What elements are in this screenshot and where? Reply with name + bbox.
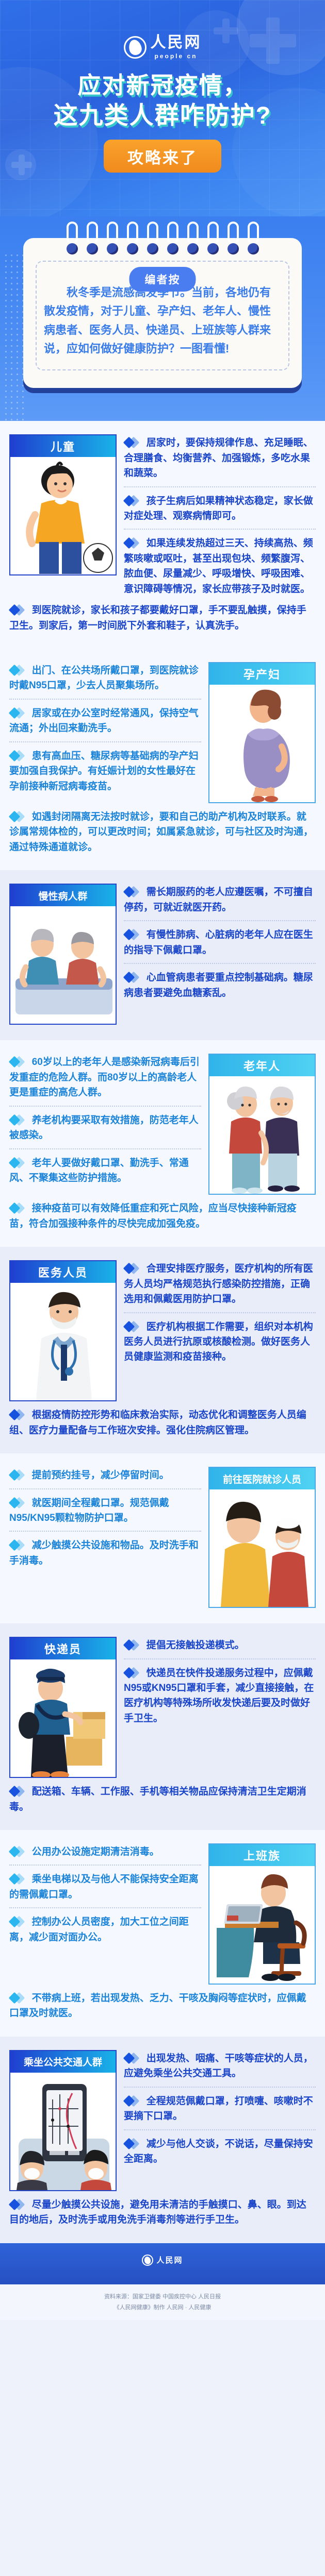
figure-card-elderly: 老年人 xyxy=(208,1054,316,1195)
section-public-transport: 乘坐公共交通人群 xyxy=(0,2037,325,2243)
bullet-text: 根据疫情防控形势和临床救治实际，动态优化和调整医务人员编组、医疗力量配备与工作班… xyxy=(9,1408,316,1438)
diamond-bullet-icon xyxy=(10,751,26,761)
bullet-item: 居家或在办公室时经常通风，保持空气流通；外出回来勤洗手。 xyxy=(9,699,201,736)
figure-card-hospital-visitor: 前往医院就诊人员 xyxy=(208,1467,316,1608)
section-children: 儿童 xyxy=(0,421,325,649)
section-medical-staff: 医务人员 xyxy=(0,1247,325,1453)
brand-name-en: people cn xyxy=(154,53,197,60)
bullet-text: 全程规范佩戴口罩，打喷嚏、咳嗽时不要摘下口罩。 xyxy=(124,2094,316,2124)
brand-name-cn: 人民网 xyxy=(151,35,202,50)
bullet-text: 医疗机构根据工作需要，组织对本机构医务人员进行抗原或核酸检测。做好医务人员健康监… xyxy=(124,1319,316,1365)
bullet-item: 居家时，要保持规律作息、充足睡眠、合理膳食、均衡营养、加强锻炼，多吃水果和蔬菜。 xyxy=(124,435,316,481)
bullet-list-courier-wide: 配送箱、车辆、工作服、手机等相关物品应保持清洁卫生定期消毒。 xyxy=(9,1783,316,1815)
bullet-item: 减少触摸公共设施和物品。及时洗手和手消毒。 xyxy=(9,1531,201,1568)
diamond-bullet-icon xyxy=(10,811,26,822)
bullet-text: 控制办公人员密度，加大工位之间距离，减少面对面办公。 xyxy=(9,1914,201,1945)
diamond-bullet-icon xyxy=(10,1874,26,1884)
bullet-item: 医疗机构根据工作需要，组织对本机构医务人员进行抗原或核酸检测。做好医务人员健康监… xyxy=(124,1312,316,1365)
section-pregnant: 孕产妇 xyxy=(0,649,325,870)
bullet-list-public-transport-wide: 尽量少触摸公共设施，避免用未清洁的手触摸口、鼻、眼。到达目的地后，及时洗手或用免… xyxy=(9,2196,316,2228)
bullet-item: 老年人要做好戴口罩、勤洗手、常通风、不聚集这些防护措施。 xyxy=(9,1148,201,1186)
bullet-item: 接种疫苗可以有效降低重症和死亡风险，应当尽快接种新冠疫苗，符合加强接种条件的尽快… xyxy=(9,1201,316,1231)
bullet-item: 控制办公人员密度，加大工位之间距离，减少面对面办公。 xyxy=(9,1907,201,1945)
bullet-text: 到医院就诊，家长和孩子都要戴好口罩，手不要乱触摸，保持手卫生。到家后，第一时间脱… xyxy=(9,603,316,633)
medical-cross-icon xyxy=(11,155,32,175)
bullet-item: 如果连续发热超过三天、持续高热、频繁咳嗽或呕吐，甚至出现包块、频繁腹泻、脓血便、… xyxy=(124,529,316,597)
bullet-item: 就医期间全程戴口罩。规范佩戴N95/KN95颗粒物防护口罩。 xyxy=(9,1488,201,1526)
hero-banner: 人民网 people cn 应对新冠疫情， 这九类人群咋防护? 攻略来了 xyxy=(0,0,325,216)
diamond-bullet-icon xyxy=(125,929,140,940)
bullet-text: 减少与他人交谈，不说话，尽量保持安全距离。 xyxy=(124,2137,316,2167)
diamond-bullet-icon xyxy=(10,1993,26,2003)
bullet-item: 乘坐电梯以及与他人不能保持安全距离的需佩戴口罩。 xyxy=(9,1865,201,1902)
diamond-bullet-icon xyxy=(10,665,26,675)
bullet-list-medical-staff: 合理安排医疗服务，医疗机构的所有医务人员均严格规范执行感染防控措施，正确选用和佩… xyxy=(124,1260,316,1365)
credit-text: 《人民网健康》制作 人民网 · 人民健康 xyxy=(9,2302,316,2313)
editor-note-tag: 编者按 xyxy=(129,267,196,292)
editor-note-text: 秋冬季是流感高发季节。当前，各地仍有散发疫情，对于儿童、孕产妇、老年人、慢性病患… xyxy=(44,283,281,358)
bullet-item: 养老机构要采取有效措施，防范老年人被感染。 xyxy=(9,1106,201,1143)
section-chronic: 慢性病人群 xyxy=(0,870,325,1040)
people-cn-logo-icon xyxy=(142,2255,153,2266)
bullet-text: 尽量少触摸公共设施，避免用未清洁的手触摸口、鼻、眼。到达目的地后，及时洗手或用免… xyxy=(9,2197,316,2228)
diamond-bullet-icon xyxy=(125,538,140,548)
illustration-public-transport xyxy=(10,2073,116,2190)
bullet-text: 养老机构要采取有效措施，防范老年人被感染。 xyxy=(9,1113,201,1143)
diamond-bullet-icon xyxy=(10,1498,26,1508)
section-title-courier: 快递员 xyxy=(10,1638,116,1659)
footer-brand-name: 人民网 xyxy=(156,2255,183,2265)
bullet-item: 如遇封闭隔离无法按时就诊，要和自己的助产机构及时联系。就诊属常规体检的，可以更改… xyxy=(9,809,316,855)
diamond-bullet-icon xyxy=(10,2199,26,2210)
section-office-worker: 上班族 xyxy=(0,1830,325,2037)
section-title-medical-staff: 医务人员 xyxy=(10,1261,116,1283)
diamond-bullet-icon xyxy=(10,1917,26,1927)
bullet-list-chronic: 需长期服药的老人应遵医嘱，不可擅自停药，可就近就医开药。 有慢性肺病、心脏病的老… xyxy=(124,884,316,1001)
notebook-spiral xyxy=(0,226,325,244)
bullet-list-office-worker-wide: 不带病上班，若出现发热、乏力、干咳及胸闷等症状时，应佩戴口罩及时就医。 xyxy=(9,1990,316,2021)
section-title-pregnant: 孕产妇 xyxy=(209,663,315,685)
bullet-item: 有慢性肺病、心脏病的老年人应在医生的指导下佩戴口罩。 xyxy=(124,920,316,958)
section-title-hospital-visitor: 前往医院就诊人员 xyxy=(209,1468,315,1489)
diamond-bullet-icon xyxy=(125,2053,140,2063)
bullet-list-office-worker: 公用办公设施定期清洁消毒。 乘坐电梯以及与他人不能保持安全距离的需佩戴口罩。 控… xyxy=(9,1843,201,1945)
bullet-item: 出现发热、咽痛、干咳等症状的人员，应避免乘坐公共交通工具。 xyxy=(124,2051,316,2081)
bullet-item: 出门、在公共场所戴口罩，到医院就诊时戴N95口罩，少去人员聚集场所。 xyxy=(9,663,201,693)
bullet-item: 全程规范佩戴口罩，打喷嚏、咳嗽时不要摘下口罩。 xyxy=(124,2087,316,2124)
section-title-public-transport: 乘坐公共交通人群 xyxy=(10,2051,116,2073)
bullet-text: 快递员在快件投递服务过程中，应佩戴N95或KN95口罩和手套，减少直接接触，在医… xyxy=(124,1666,316,1726)
bullet-text: 就医期间全程戴口罩。规范佩戴N95/KN95颗粒物防护口罩。 xyxy=(9,1496,201,1526)
section-title-elderly: 老年人 xyxy=(209,1055,315,1076)
diamond-bullet-icon xyxy=(10,1115,26,1125)
editor-note-card: 编者按 秋冬季是流感高发季节。当前，各地仍有散发疫情，对于儿童、孕产妇、老年人、… xyxy=(23,238,302,388)
bullet-text: 居家或在办公室时经常通风，保持空气流通；外出回来勤洗手。 xyxy=(9,706,201,736)
bullet-list-hospital-visitor: 提前预约挂号，减少停留时间。 就医期间全程戴口罩。规范佩戴N95/KN95颗粒物… xyxy=(9,1467,201,1568)
bullet-list-children-wide: 到医院就诊，家长和孩子都要戴好口罩，手不要乱触摸，保持手卫生。到家后，第一时间脱… xyxy=(9,602,316,633)
section-title-office-worker: 上班族 xyxy=(209,1844,315,1866)
figure-card-children: 儿童 xyxy=(9,434,117,575)
bullet-text: 乘坐电梯以及与他人不能保持安全距离的需佩戴口罩。 xyxy=(9,1872,201,1902)
figure-card-pregnant: 孕产妇 xyxy=(208,662,316,803)
figure-card-medical-staff: 医务人员 xyxy=(9,1260,117,1401)
bullet-item: 60岁以上的老年人是感染新冠病毒后引发重症的危险人群。而80岁以上的高龄老人更是… xyxy=(9,1055,201,1100)
editor-note-section: 编者按 秋冬季是流感高发季节。当前，各地仍有散发疫情，对于儿童、孕产妇、老年人、… xyxy=(0,216,325,421)
bullet-list-medical-staff-wide: 根据疫情防控形势和临床救治实际，动态优化和调整医务人员编组、医疗力量配备与工作班… xyxy=(9,1406,316,1438)
figure-card-public-transport: 乘坐公共交通人群 xyxy=(9,2050,117,2191)
bullet-text: 提前预约挂号，减少停留时间。 xyxy=(9,1468,201,1483)
notebook-holes xyxy=(23,243,302,255)
source-text: 资料来源：国家卫健委 中国疾控中心 人民日报 xyxy=(9,2292,316,2302)
bullet-text: 如果连续发热超过三天、持续高热、频繁咳嗽或呕吐，甚至出现包块、频繁腹泻、脓血便、… xyxy=(124,536,316,597)
diamond-bullet-icon xyxy=(125,972,140,982)
bullet-item: 配送箱、车辆、工作服、手机等相关物品应保持清洁卫生定期消毒。 xyxy=(9,1784,316,1815)
diamond-bullet-icon xyxy=(10,1410,26,1420)
source-credit-bar: 资料来源：国家卫健委 中国疾控中心 人民日报 《人民网健康》制作 人民网 · 人… xyxy=(0,2284,325,2320)
diamond-bullet-icon xyxy=(10,1786,26,1797)
bullet-item: 心血管病患者要重点控制基础病。糖尿病患者要避免血糖紊乱。 xyxy=(124,963,316,1001)
people-cn-logo: 人民网 people cn xyxy=(0,0,325,60)
guide-badge-label: 攻略来了 xyxy=(127,145,198,168)
bullet-text: 有慢性肺病、心脏病的老年人应在医生的指导下佩戴口罩。 xyxy=(124,927,316,958)
bullet-list-elderly: 60岁以上的老年人是感染新冠病毒后引发重症的危险人群。而80岁以上的高龄老人更是… xyxy=(9,1054,201,1185)
bullet-item: 快递员在快件投递服务过程中，应佩戴N95或KN95口罩和手套，减少直接接触，在医… xyxy=(124,1658,316,1726)
illustration-chronic-patients xyxy=(10,906,116,1024)
section-title-chronic: 慢性病人群 xyxy=(10,885,116,906)
page-title: 应对新冠疫情， 这九类人群咋防护? xyxy=(0,73,325,128)
bullet-list-courier: 提倡无接触投递模式。 快递员在快件投递服务过程中，应佩戴N95或KN95口罩和手… xyxy=(124,1637,316,1726)
bullet-item: 孩子生病后如果精神状态稳定，家长做对症处理、观察病情即可。 xyxy=(124,486,316,524)
bullet-list-pregnant-wide: 如遇封闭隔离无法按时就诊，要和自己的助产机构及时联系。就诊属常规体检的，可以更改… xyxy=(9,808,316,855)
bullet-item: 尽量少触摸公共设施，避免用未清洁的手触摸口、鼻、眼。到达目的地后，及时洗手或用免… xyxy=(9,2197,316,2228)
illustration-hospital-visitors xyxy=(209,1489,315,1607)
diamond-bullet-icon xyxy=(10,605,26,615)
guide-badge: 攻略来了 xyxy=(104,140,221,173)
bullet-text: 提倡无接触投递模式。 xyxy=(124,1638,316,1653)
bullet-text: 孩子生病后如果精神状态稳定，家长做对症处理、观察病情即可。 xyxy=(124,494,316,524)
bullet-text: 配送箱、车辆、工作服、手机等相关物品应保持清洁卫生定期消毒。 xyxy=(9,1784,316,1815)
bullet-text: 减少触摸公共设施和物品。及时洗手和手消毒。 xyxy=(9,1538,201,1568)
diamond-bullet-icon xyxy=(10,1470,26,1480)
bullet-item: 提倡无接触投递模式。 xyxy=(124,1638,316,1653)
bullet-text: 不带病上班，若出现发热、乏力、干咳及胸闷等症状时，应佩戴口罩及时就医。 xyxy=(9,1991,316,2021)
diamond-bullet-icon xyxy=(125,2096,140,2106)
diamond-bullet-icon xyxy=(125,496,140,506)
bullet-item: 提前预约挂号，减少停留时间。 xyxy=(9,1468,201,1483)
bullet-text: 老年人要做好戴口罩、勤洗手、常通风、不聚集这些防护措施。 xyxy=(9,1156,201,1186)
illustration-pregnant-woman xyxy=(209,685,315,802)
diamond-bullet-icon xyxy=(125,1668,140,1678)
figure-card-courier: 快递员 xyxy=(9,1637,117,1778)
diamond-bullet-icon xyxy=(10,1057,26,1067)
diamond-bullet-icon xyxy=(10,1846,26,1857)
bullet-list-pregnant: 出门、在公共场所戴口罩，到医院就诊时戴N95口罩，少去人员聚集场所。 居家或在办… xyxy=(9,662,201,794)
illustration-child xyxy=(10,457,116,574)
figure-card-office-worker: 上班族 xyxy=(208,1843,316,1985)
bullet-item: 患有高血压、糖尿病等基础病的孕产妇要加强自我保护。有妊娠计划的女性最好在孕前接种… xyxy=(9,741,201,794)
section-courier: 快递员 xyxy=(0,1623,325,1830)
illustration-doctor xyxy=(10,1283,116,1400)
diamond-bullet-icon xyxy=(125,1640,140,1650)
bullet-text: 60岁以上的老年人是感染新冠病毒后引发重症的危险人群。而80岁以上的高龄老人更是… xyxy=(9,1055,201,1100)
diamond-bullet-icon xyxy=(10,1540,26,1550)
bullet-text: 患有高血压、糖尿病等基础病的孕产妇要加强自我保护。有妊娠计划的女性最好在孕前接种… xyxy=(9,749,201,794)
bullet-item: 合理安排医疗服务，医疗机构的所有医务人员均严格规范执行感染防控措施，正确选用和佩… xyxy=(124,1261,316,1307)
bullet-item: 根据疫情防控形势和临床救治实际，动态优化和调整医务人员编组、医疗力量配备与工作班… xyxy=(9,1408,316,1438)
diamond-bullet-icon xyxy=(125,887,140,897)
bullet-list-elderly-wide: 接种疫苗可以有效降低重症和死亡风险，应当尽快接种新冠疫苗，符合加强接种条件的尽快… xyxy=(9,1200,316,1231)
diamond-bullet-icon xyxy=(10,1203,26,1213)
bullet-item: 不带病上班，若出现发热、乏力、干咳及胸闷等症状时，应佩戴口罩及时就医。 xyxy=(9,1991,316,2021)
bullet-text: 合理安排医疗服务，医疗机构的所有医务人员均严格规范执行感染防控措施，正确选用和佩… xyxy=(124,1261,316,1307)
bullet-list-children: 居家时，要保持规律作息、充足睡眠、合理膳食、均衡营养、加强锻炼，多吃水果和蔬菜。… xyxy=(124,434,316,597)
bullet-text: 出现发热、咽痛、干咳等症状的人员，应避免乘坐公共交通工具。 xyxy=(124,2051,316,2081)
bullet-text: 需长期服药的老人应遵医嘱，不可擅自停药，可就近就医开药。 xyxy=(124,885,316,915)
bullet-text: 居家时，要保持规律作息、充足睡眠、合理膳食、均衡营养、加强锻炼，多吃水果和蔬菜。 xyxy=(124,435,316,481)
title-line-1: 应对新冠疫情， xyxy=(0,73,325,98)
bullet-item: 需长期服药的老人应遵医嘱，不可擅自停药，可就近就医开药。 xyxy=(124,885,316,915)
title-line-2: 这九类人群咋防护? xyxy=(0,103,325,129)
diamond-bullet-icon xyxy=(125,437,140,448)
section-title-children: 儿童 xyxy=(10,435,116,457)
infographic-page: 人民网 people cn 应对新冠疫情， 这九类人群咋防护? 攻略来了 编者按… xyxy=(0,0,325,2320)
bullet-list-public-transport: 出现发热、咽痛、干咳等症状的人员，应避免乘坐公共交通工具。 全程规范佩戴口罩，打… xyxy=(124,2050,316,2167)
diamond-bullet-icon xyxy=(10,1158,26,1168)
diamond-bullet-icon xyxy=(125,2139,140,2149)
illustration-office-worker xyxy=(209,1866,315,1984)
bullet-text: 出门、在公共场所戴口罩，到医院就诊时戴N95口罩，少去人员聚集场所。 xyxy=(9,663,201,693)
people-cn-logo-icon xyxy=(124,36,147,59)
diamond-bullet-icon xyxy=(125,1321,140,1332)
bullet-item: 公用办公设施定期清洁消毒。 xyxy=(9,1844,201,1859)
page-footer: 人民网 xyxy=(0,2243,325,2284)
illustration-elderly-couple xyxy=(209,1076,315,1194)
bullet-text: 心血管病患者要重点控制基础病。糖尿病患者要避免血糖紊乱。 xyxy=(124,970,316,1001)
bullet-item: 到医院就诊，家长和孩子都要戴好口罩，手不要乱触摸，保持手卫生。到家后，第一时间脱… xyxy=(9,603,316,633)
section-elderly: 老年人 xyxy=(0,1040,325,1247)
bullet-text: 如遇封闭隔离无法按时就诊，要和自己的助产机构及时联系。就诊属常规体检的，可以更改… xyxy=(9,809,316,855)
diamond-bullet-icon xyxy=(10,708,26,718)
bullet-text: 接种疫苗可以有效降低重症和死亡风险，应当尽快接种新冠疫苗，符合加强接种条件的尽快… xyxy=(9,1201,316,1231)
section-hospital-visitor: 前往医院就诊人员 提前预 xyxy=(0,1453,325,1623)
bullet-text: 公用办公设施定期清洁消毒。 xyxy=(9,1844,201,1859)
figure-card-chronic: 慢性病人群 xyxy=(9,884,117,1025)
bullet-item: 减少与他人交谈，不说话，尽量保持安全距离。 xyxy=(124,2129,316,2167)
illustration-courier xyxy=(10,1659,116,1777)
footer-logo: 人民网 xyxy=(9,2255,316,2266)
diamond-bullet-icon xyxy=(125,1263,140,1274)
